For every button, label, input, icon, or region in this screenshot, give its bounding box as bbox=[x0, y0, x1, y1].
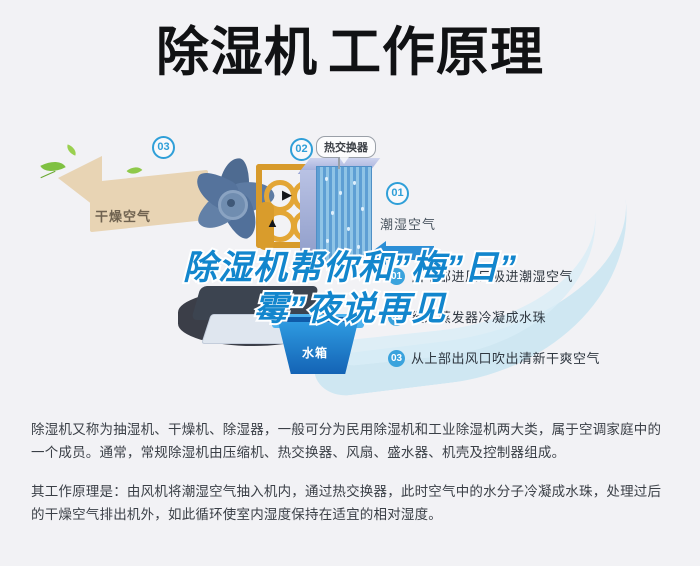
heat-exchanger-icon bbox=[300, 170, 372, 262]
water-tank-label: 水箱 bbox=[302, 344, 328, 361]
step-item: 01 由下部进风口吸进潮湿空气 bbox=[388, 268, 688, 288]
body-paragraph-1: 除湿机又称为抽湿机、干燥机、除湿器，一般可分为民用除湿机和工业除湿机两大类，属于… bbox=[31, 418, 671, 464]
badge-02-heat-exchanger: 02 bbox=[290, 138, 313, 161]
leaf-stem-icon bbox=[40, 171, 55, 178]
step-list: 01 由下部进风口吸进潮湿空气 02 经过蒸发器冷凝成水珠 03 从上部出风口吹… bbox=[388, 268, 688, 391]
heat-exchanger-callout: 热交换器 bbox=[316, 136, 376, 158]
badge-01-humid-air: 01 bbox=[386, 182, 409, 205]
step-item: 03 从上部出风口吹出清新干爽空气 bbox=[388, 350, 688, 370]
step-item: 02 经过蒸发器冷凝成水珠 bbox=[388, 309, 688, 329]
title-part-1: 除湿机 bbox=[156, 23, 318, 82]
body-text: 除湿机又称为抽湿机、干燥机、除湿器，一般可分为民用除湿机和工业除湿机两大类，属于… bbox=[31, 418, 671, 526]
step-badge: 02 bbox=[388, 309, 405, 326]
water-tank-icon: 水箱 bbox=[272, 314, 364, 376]
page-root: 除湿机工作原理 03 干燥空气 bbox=[0, 0, 700, 566]
step-badge: 01 bbox=[388, 268, 405, 285]
badge-03-dry-air: 03 bbox=[152, 136, 175, 159]
step-text: 从上部出风口吹出清新干爽空气 bbox=[411, 350, 600, 367]
page-title: 除湿机工作原理 bbox=[0, 22, 700, 84]
dry-air-label: 干燥空气 bbox=[95, 206, 151, 225]
dehumidifier-diagram: 03 干燥空气 ▶ ▼ ▲ bbox=[0, 118, 700, 406]
step-badge: 03 bbox=[388, 350, 405, 367]
title-part-2: 工作原理 bbox=[328, 23, 544, 82]
step-text: 经过蒸发器冷凝成水珠 bbox=[411, 309, 546, 326]
callout-stem bbox=[338, 157, 340, 169]
step-text: 由下部进风口吸进潮湿空气 bbox=[411, 268, 573, 285]
body-paragraph-2: 其工作原理是：由风机将潮湿空气抽入机内，通过热交换器，此时空气中的水分子冷凝成水… bbox=[31, 480, 671, 526]
intake-arrow-icon bbox=[370, 246, 434, 260]
humid-air-label: 潮湿空气 bbox=[380, 214, 436, 233]
